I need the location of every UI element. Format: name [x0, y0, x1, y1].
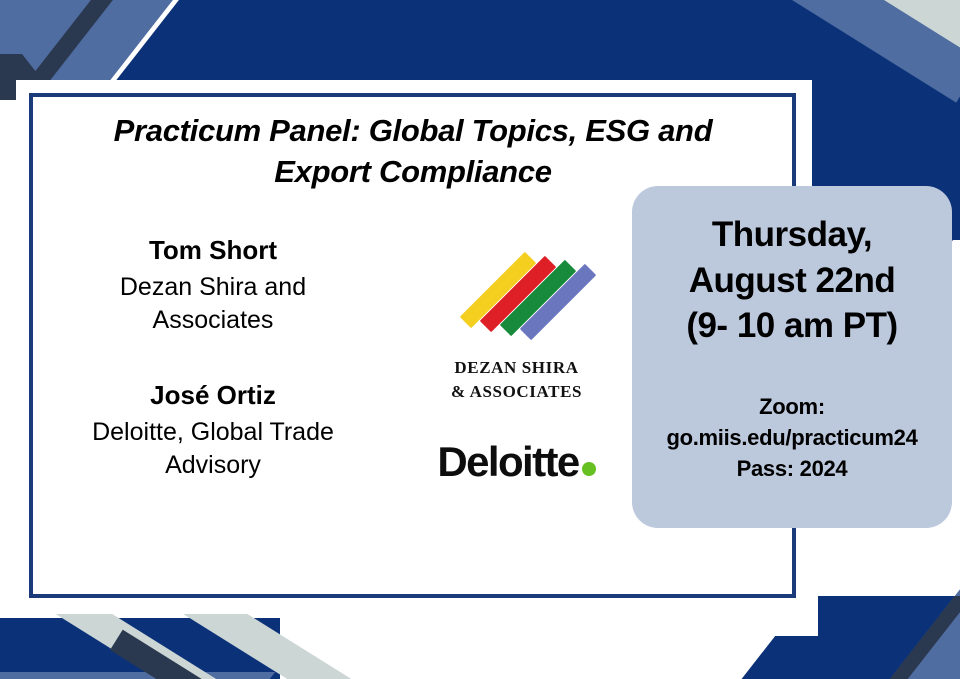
- deco-bottom-left-dark-band: [110, 630, 326, 679]
- deco-top-left-navy-bar: [113, 0, 656, 84]
- deco-bottom-right-medium-bar: [837, 586, 960, 679]
- zoom-passcode: Pass: 2024: [646, 453, 938, 484]
- deco-top-right-gray-band-2: [612, 0, 960, 58]
- event-date-line-2: August 22nd: [646, 258, 938, 304]
- zoom-details: Zoom: go.miis.edu/practicum24 Pass: 2024: [646, 391, 938, 485]
- deco-bottom-right-navy-block: [818, 596, 960, 679]
- event-details-box: Thursday, August 22nd (9- 10 am PT) Zoom…: [632, 186, 952, 528]
- event-date: Thursday, August 22nd (9- 10 am PT): [646, 212, 938, 349]
- event-flyer: Practicum Panel: Global Topics, ESG and …: [0, 0, 960, 679]
- deco-bottom-right-dark-bar: [837, 596, 960, 679]
- deco-bottom-right-navy-bar: [705, 636, 960, 679]
- deco-top-left-medium-bar: [0, 0, 167, 84]
- deco-top-left-medium-bar-2: [49, 0, 180, 84]
- zoom-link[interactable]: go.miis.edu/practicum24: [646, 422, 938, 453]
- zoom-label: Zoom:: [646, 391, 938, 422]
- deco-bottom-left-medium-bar: [0, 672, 275, 679]
- event-time: (9- 10 am PT): [646, 303, 938, 349]
- event-date-line-1: Thursday,: [646, 212, 938, 258]
- deco-top-left-dark-stripe: [25, 0, 120, 84]
- deco-top-right-gray-band-1: [560, 0, 960, 67]
- deco-bottom-left-navy-block: [0, 618, 280, 679]
